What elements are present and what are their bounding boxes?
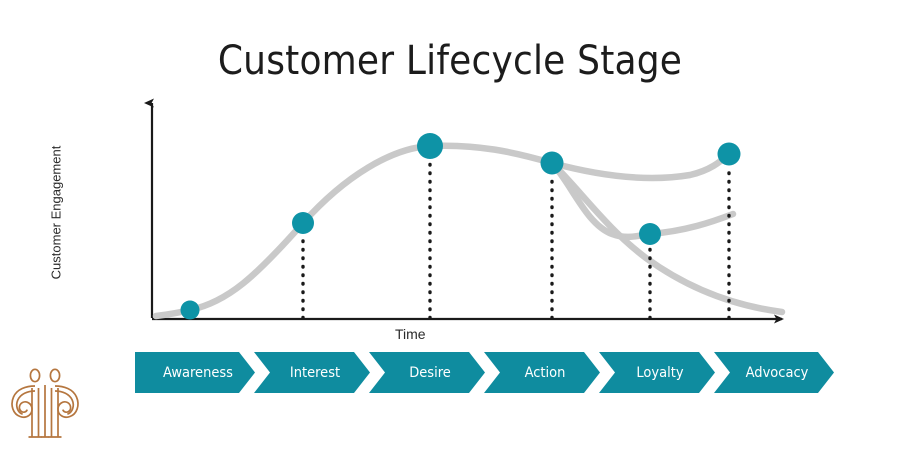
stage-chevron-advocacy[interactable]: Advocacy xyxy=(714,352,834,393)
marker-awareness[interactable] xyxy=(181,301,200,320)
stage-chevron-interest[interactable]: Interest xyxy=(254,352,370,393)
marker-desire[interactable] xyxy=(417,133,443,159)
stage-chevron-action[interactable]: Action xyxy=(484,352,600,393)
marker-advocacy[interactable] xyxy=(718,143,741,166)
marker-action[interactable] xyxy=(541,152,564,175)
stage-chevron-awareness[interactable]: Awareness xyxy=(135,352,255,393)
stage-label-awareness: Awareness xyxy=(157,365,233,381)
slide-canvas: Customer Lifecycle Stage xyxy=(0,0,900,450)
stage-label-interest: Interest xyxy=(284,365,340,381)
y-axis-label: Customer Engagement xyxy=(49,113,64,313)
data-markers-group xyxy=(181,133,741,320)
lifecycle-stage-band: Awareness Interest Desire Action Loyalty… xyxy=(135,352,800,393)
stage-label-action: Action xyxy=(519,365,566,381)
marker-loyalty[interactable] xyxy=(639,223,661,245)
ionic-columns-logo xyxy=(10,366,82,444)
logo-center-stem xyxy=(42,385,49,437)
logo-head-left xyxy=(30,369,39,381)
curve-lower-churn xyxy=(552,163,782,312)
curve-upper-advocacy xyxy=(552,154,729,178)
logo-head-right xyxy=(50,369,59,381)
stage-chevron-desire[interactable]: Desire xyxy=(369,352,485,393)
curve-main-scurve xyxy=(156,146,552,316)
marker-interest[interactable] xyxy=(292,212,314,234)
x-axis-label: Time xyxy=(395,326,426,342)
curve-middle-loyalty xyxy=(552,163,733,237)
stage-label-loyalty: Loyalty xyxy=(630,365,683,381)
stage-chevron-loyalty[interactable]: Loyalty xyxy=(599,352,715,393)
stage-label-advocacy: Advocacy xyxy=(740,365,809,381)
stage-label-desire: Desire xyxy=(403,365,451,381)
